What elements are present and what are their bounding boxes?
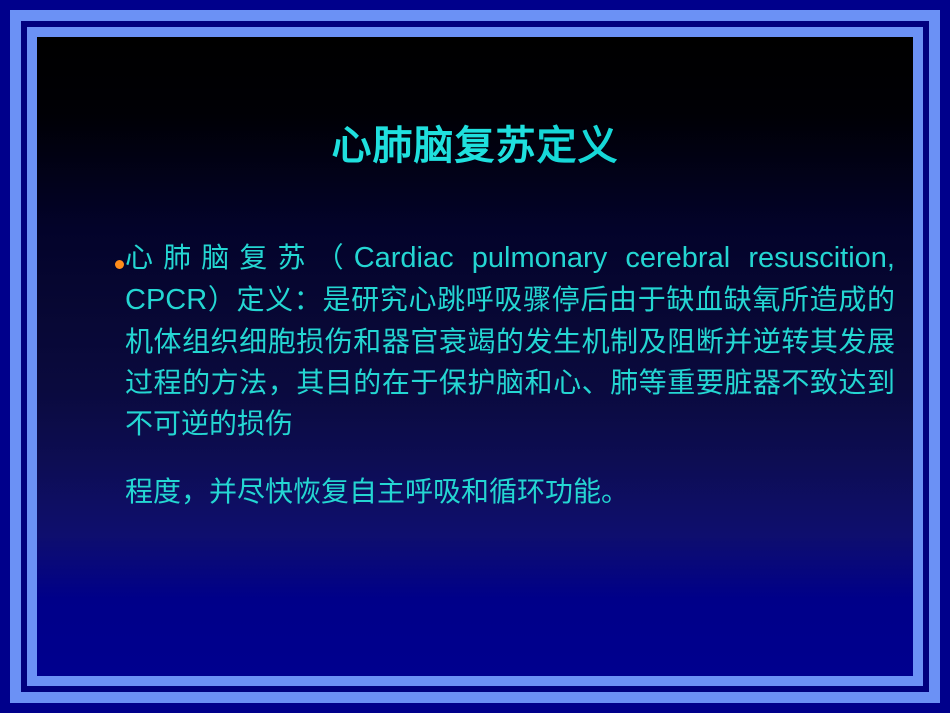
page-title-main: 心肺脑复苏 xyxy=(332,122,537,169)
presentation-slide: 心肺脑复苏定义 心肺脑复苏（Cardiac pulmonary cerebral… xyxy=(0,0,950,713)
round-bullet-icon xyxy=(115,260,124,269)
page-title-emphasis: 定义 xyxy=(537,122,619,169)
definition-cjk-opening: 心肺脑复苏（ xyxy=(125,241,354,274)
bullet-list: 心肺脑复苏（Cardiac pulmonary cerebral resusci… xyxy=(77,209,895,539)
slide-content-area: 心肺脑复苏定义 心肺脑复苏（Cardiac pulmonary cerebral… xyxy=(37,37,913,676)
list-item: 心肺脑复苏（Cardiac pulmonary cerebral resusci… xyxy=(77,237,895,511)
page-title: 心肺脑复苏定义 xyxy=(37,122,913,170)
definition-paragraph: 心肺脑复苏（Cardiac pulmonary cerebral resusci… xyxy=(125,237,895,444)
definition-cjk-body: ）定义：是研究心跳呼吸骤停后由于缺血缺氧所造成的机体组织细胞损伤和器官衰竭的发生… xyxy=(125,283,895,440)
definition-paragraph-tail: 程度，并尽快恢复自主呼吸和循环功能。 xyxy=(125,472,895,511)
